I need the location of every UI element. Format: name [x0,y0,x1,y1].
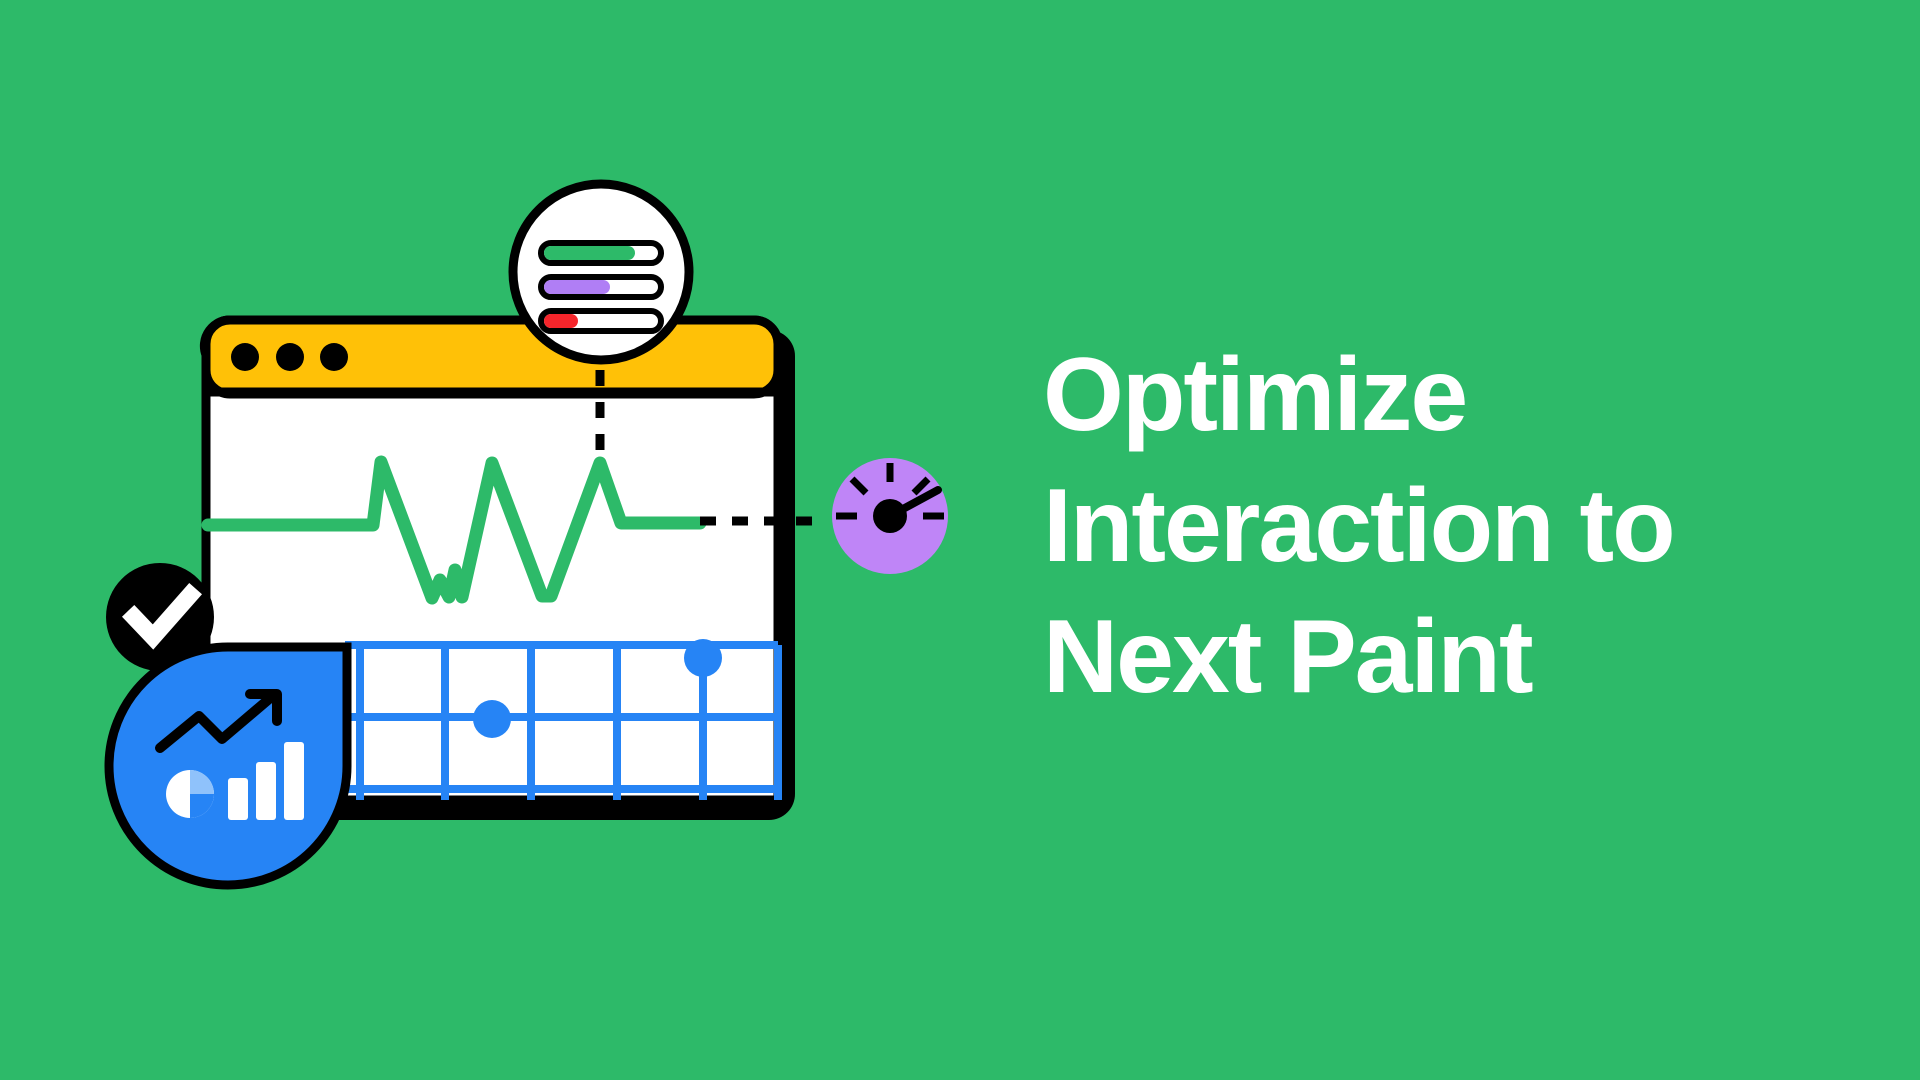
progress-bar-green [541,243,661,263]
progress-bar-purple [541,277,661,297]
grid-point-1[interactable] [684,639,722,677]
window-dot-3 [320,343,348,371]
grid-point-2[interactable] [473,700,511,738]
metrics-badge[interactable] [513,184,689,360]
title-line-3: Next Paint [1043,592,1873,723]
window-dot-1 [231,343,259,371]
analytics-badge[interactable] [109,647,347,885]
page-title: Optimize Interaction to Next Paint [1043,330,1873,723]
title-line-2: Interaction to [1043,461,1873,592]
title-line-1: Optimize [1043,330,1873,461]
progress-bar-red [541,311,661,331]
window-traffic-lights[interactable] [231,343,348,371]
inp-performance-illustration [0,0,1040,1080]
speed-gauge[interactable] [832,458,948,574]
pie-chart-icon [166,770,214,818]
hero-banner: Optimize Interaction to Next Paint [0,0,1920,1080]
gauge-hub [873,499,907,533]
window-dot-2 [276,343,304,371]
